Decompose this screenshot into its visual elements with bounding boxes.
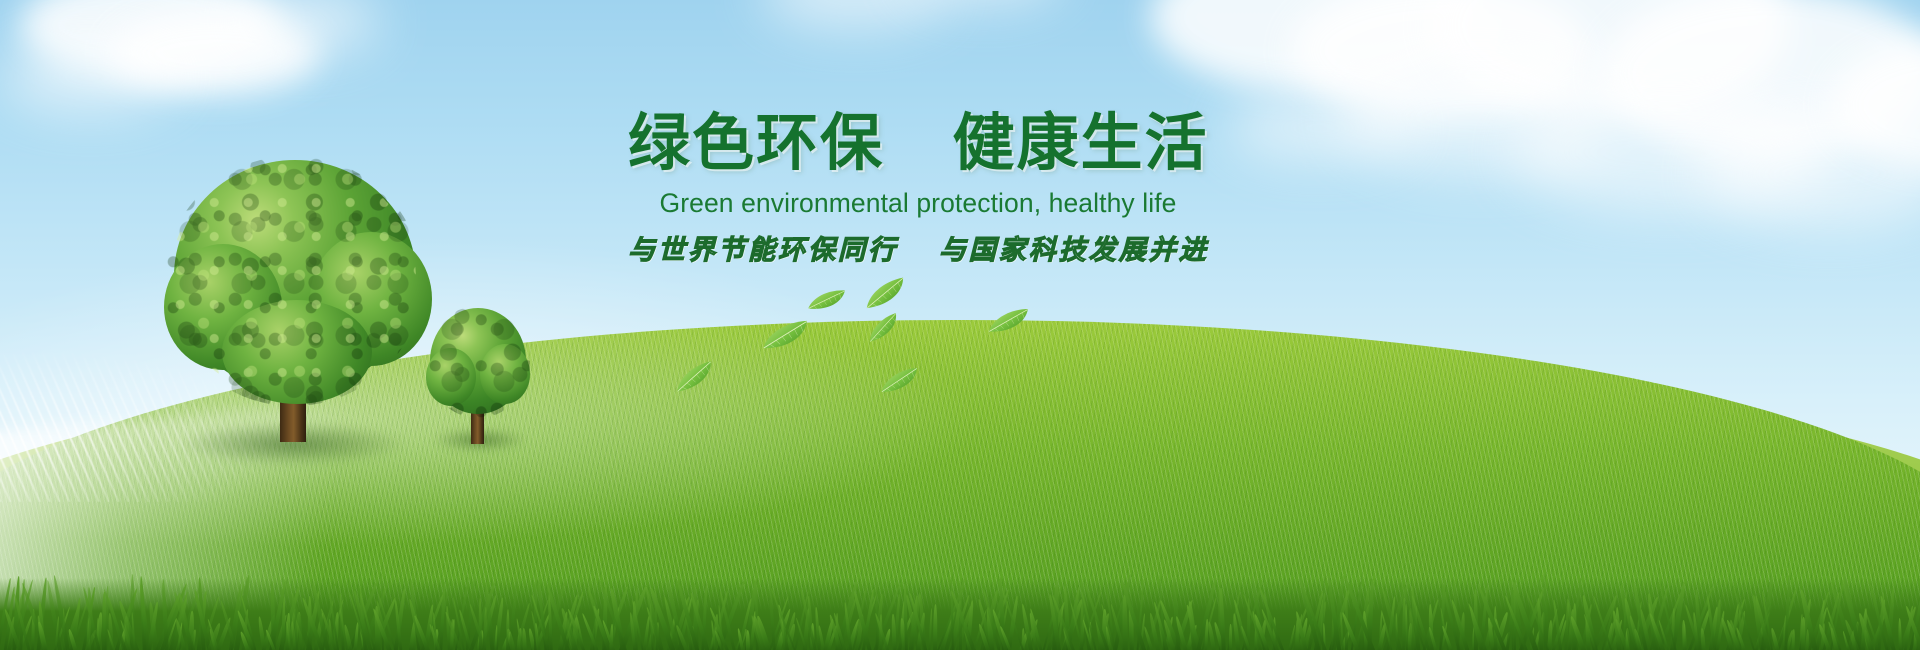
page-title: 绿色环保 健康生活 (628, 112, 1208, 176)
headline-block: 绿色环保 健康生活 Green environmental protection… (628, 112, 1208, 267)
cloud-7 (1430, 0, 1790, 120)
cloud-14 (905, 0, 1065, 4)
cloud-5 (1150, 0, 1480, 92)
calligraphy-part-1: 与世界节能环保同行 (628, 235, 898, 266)
grass-blade (1405, 604, 1408, 650)
grass-blade (1791, 628, 1796, 650)
cloud-13 (760, 0, 950, 28)
cloud-6 (1290, 0, 1590, 120)
grass-blade (1700, 628, 1706, 650)
cloud-3 (0, 42, 180, 112)
grass-blade (522, 628, 528, 650)
grass-blade (768, 578, 776, 650)
small-tree-foliage-texture (426, 306, 530, 418)
subtitle-english: Green environmental protection, healthy … (628, 188, 1208, 219)
title-part-1: 绿色环保 (628, 109, 884, 178)
cloud-4 (230, 0, 380, 54)
cloud-10 (1510, 92, 1830, 212)
calligraphy-slogan: 与世界节能环保同行 与国家科技发展并进 (628, 228, 1208, 267)
title-part-2: 健康生活 (952, 109, 1208, 178)
grass-blades (0, 554, 1920, 650)
big-tree-foliage-highlight (170, 160, 416, 398)
cloud-11 (1700, 120, 1920, 228)
eco-banner: 绿色环保 健康生活 Green environmental protection… (0, 0, 1920, 650)
cloud-15 (1830, 40, 1920, 170)
grass-blade (933, 604, 938, 650)
leaf-icon-4 (860, 275, 913, 316)
cloud-1 (20, 0, 280, 80)
big-tree (170, 160, 420, 460)
cloud-8 (1600, 0, 1920, 161)
leaf-icon-3 (804, 288, 849, 315)
calligraphy-part-2: 与国家科技发展并进 (939, 235, 1209, 266)
cloud-2 (110, 10, 320, 96)
grass-blade (1229, 624, 1232, 650)
small-tree (428, 308, 528, 448)
cloud-12 (1225, 96, 1415, 160)
cloud-9 (1340, 58, 1620, 176)
grass-blade (1801, 617, 1805, 650)
